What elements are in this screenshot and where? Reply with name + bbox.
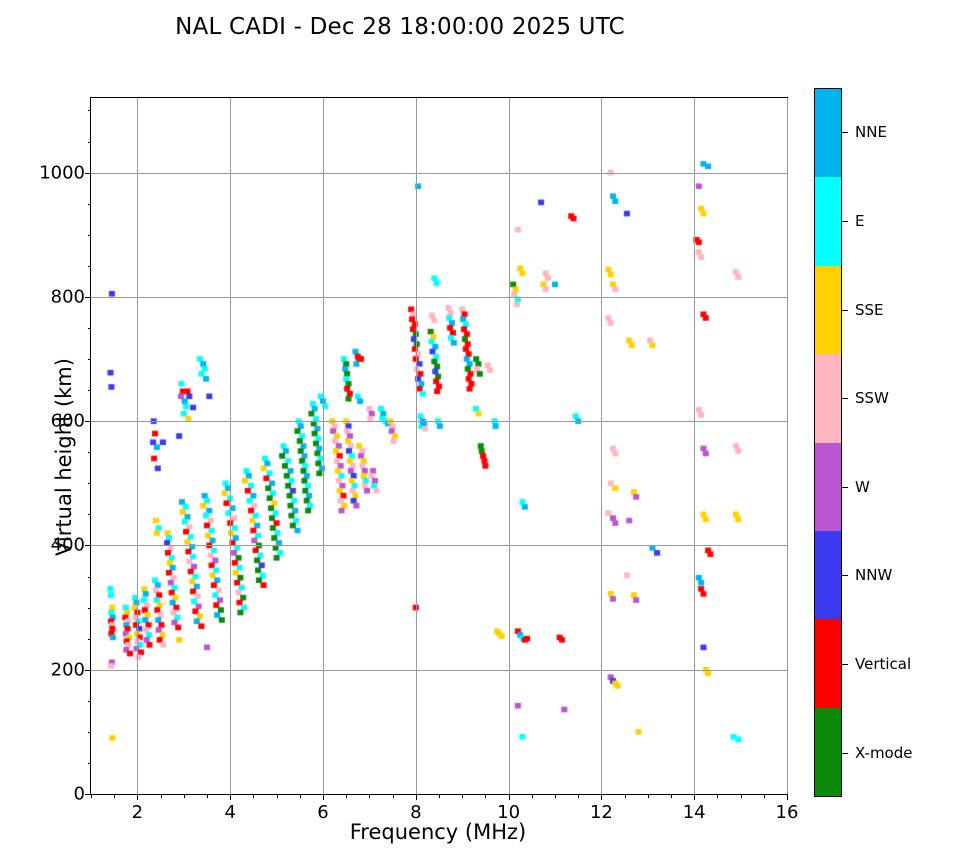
colorbar-label-ssw: SSW (855, 389, 889, 407)
x-tick-major (137, 794, 138, 800)
x-tick-major (601, 794, 602, 800)
y-tick-major (85, 421, 91, 422)
y-tick-minor (88, 732, 92, 733)
colorbar-label-vertical: Vertical (855, 655, 911, 673)
x-tick-major (416, 794, 417, 800)
x-tick-minor (300, 794, 301, 798)
gridline-horizontal (91, 545, 787, 546)
x-tick-minor (393, 794, 394, 798)
x-tick-minor (253, 794, 254, 798)
x-tick-minor (741, 794, 742, 798)
x-tick-major (230, 794, 231, 800)
colorbar-tick (842, 487, 848, 488)
gridline-vertical (137, 98, 138, 794)
x-tick-minor (439, 794, 440, 798)
colorbar-band-w (815, 443, 841, 531)
colorbar-tick (842, 575, 848, 576)
x-tick-minor (369, 794, 370, 798)
y-tick-minor (88, 235, 92, 236)
colorbar-tick (842, 221, 848, 222)
y-tick-minor (88, 639, 92, 640)
gridline-vertical (509, 98, 510, 794)
gridline-vertical (230, 98, 231, 794)
y-tick-minor (88, 452, 92, 453)
y-tick-minor (88, 390, 92, 391)
y-tick-minor (88, 608, 92, 609)
y-tick-major (85, 297, 91, 298)
colorbar-band-sse (815, 266, 841, 354)
colorbar-band-x-mode (815, 708, 841, 796)
gridline-vertical (787, 98, 788, 794)
colorbar-tick (842, 664, 848, 665)
x-tick-minor (532, 794, 533, 798)
y-tick-minor (88, 577, 92, 578)
azimuth-colorbar (814, 88, 842, 797)
y-tick-minor (88, 483, 92, 484)
gridline-vertical (416, 98, 417, 794)
y-tick-major (85, 173, 91, 174)
y-tick-minor (88, 110, 92, 111)
gridline-horizontal (91, 670, 787, 671)
gridline-vertical (694, 98, 695, 794)
x-tick-major (509, 794, 510, 800)
x-tick-minor (671, 794, 672, 798)
x-tick-minor (346, 794, 347, 798)
y-axis-title: Virtual height (km) (52, 109, 76, 805)
colorbar-band-e (815, 177, 841, 265)
y-tick-minor (88, 204, 92, 205)
colorbar-tick (842, 398, 848, 399)
y-tick-minor (88, 701, 92, 702)
ionogram-plot-area: 246810121416 02004006008001000 (90, 97, 788, 795)
x-tick-minor (91, 794, 92, 798)
x-tick-minor (462, 794, 463, 798)
x-tick-minor (578, 794, 579, 798)
x-tick-minor (648, 794, 649, 798)
page-title: NAL CADI - Dec 28 18:00:00 2025 UTC (0, 14, 800, 40)
y-tick-minor (88, 763, 92, 764)
gridline-vertical (601, 98, 602, 794)
x-tick-major (787, 794, 788, 800)
x-tick-major (323, 794, 324, 800)
x-tick-minor (555, 794, 556, 798)
colorbar-tick (842, 753, 848, 754)
x-tick-minor (277, 794, 278, 798)
colorbar-band-nnw (815, 531, 841, 619)
gridline-horizontal (91, 173, 787, 174)
colorbar-tick (842, 310, 848, 311)
x-tick-minor (625, 794, 626, 798)
x-tick-minor (764, 794, 765, 798)
colorbar-label-e: E (855, 212, 864, 230)
y-tick-minor (88, 328, 92, 329)
colorbar-label-nne: NNE (855, 123, 887, 141)
y-tick-major (85, 794, 91, 795)
x-tick-minor (184, 794, 185, 798)
scatter-data-layer (91, 98, 787, 794)
colorbar-label-sse: SSE (855, 301, 884, 319)
colorbar-label-x-mode: X-mode (855, 744, 912, 762)
x-tick-minor (114, 794, 115, 798)
colorbar-band-ssw (815, 354, 841, 442)
y-tick-minor (88, 514, 92, 515)
x-tick-major (694, 794, 695, 800)
x-axis-title: Frequency (MHz) (90, 820, 786, 844)
colorbar-band-nne (815, 89, 841, 177)
x-tick-minor (161, 794, 162, 798)
colorbar-label-nnw: NNW (855, 566, 892, 584)
colorbar-tick (842, 132, 848, 133)
x-tick-minor (207, 794, 208, 798)
y-tick-minor (88, 359, 92, 360)
colorbar-label-w: W (855, 478, 870, 496)
y-tick-major (85, 545, 91, 546)
y-tick-major (85, 670, 91, 671)
gridline-vertical (323, 98, 324, 794)
x-tick-minor (485, 794, 486, 798)
colorbar-band-vertical (815, 619, 841, 707)
y-tick-minor (88, 142, 92, 143)
gridline-horizontal (91, 297, 787, 298)
y-tick-minor (88, 266, 92, 267)
x-tick-minor (717, 794, 718, 798)
gridline-horizontal (91, 421, 787, 422)
